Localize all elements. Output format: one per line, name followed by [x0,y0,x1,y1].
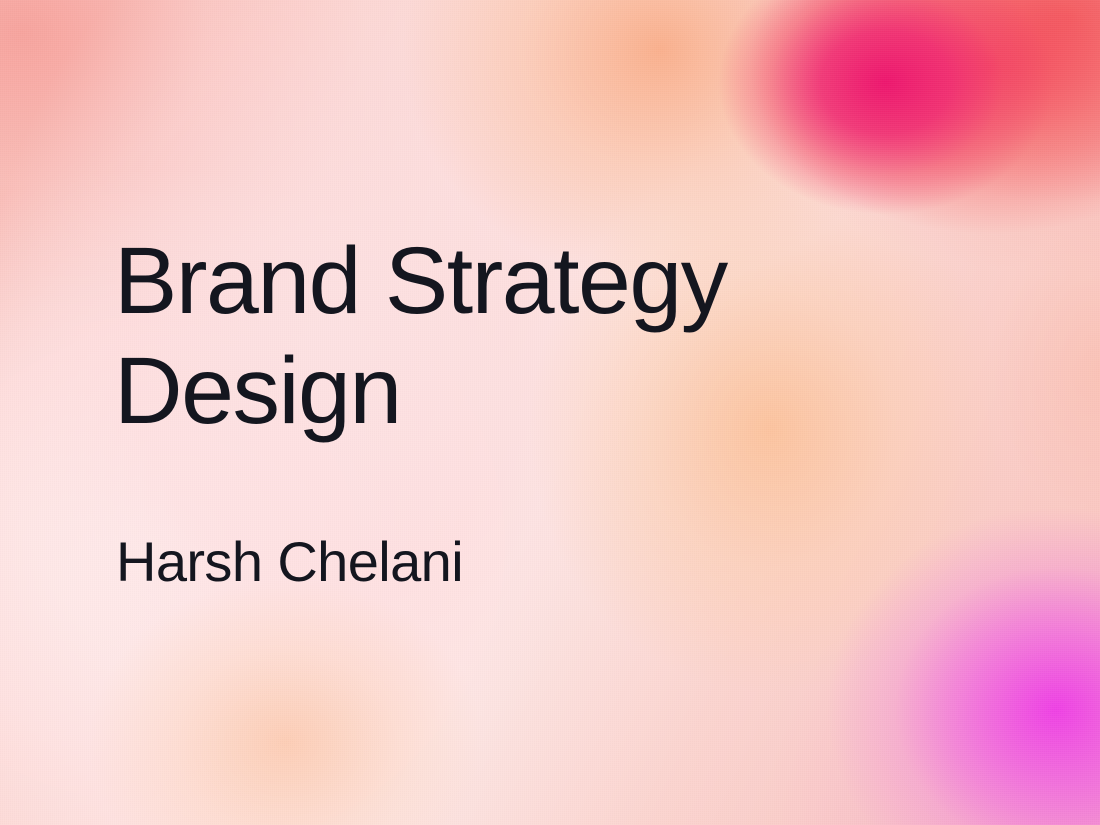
slide-author: Harsh Chelani [116,529,463,595]
title-slide: Brand Strategy Design Harsh Chelani [0,0,1100,825]
slide-content: Brand Strategy Design Harsh Chelani [114,0,994,825]
slide-title: Brand Strategy Design [114,226,727,446]
